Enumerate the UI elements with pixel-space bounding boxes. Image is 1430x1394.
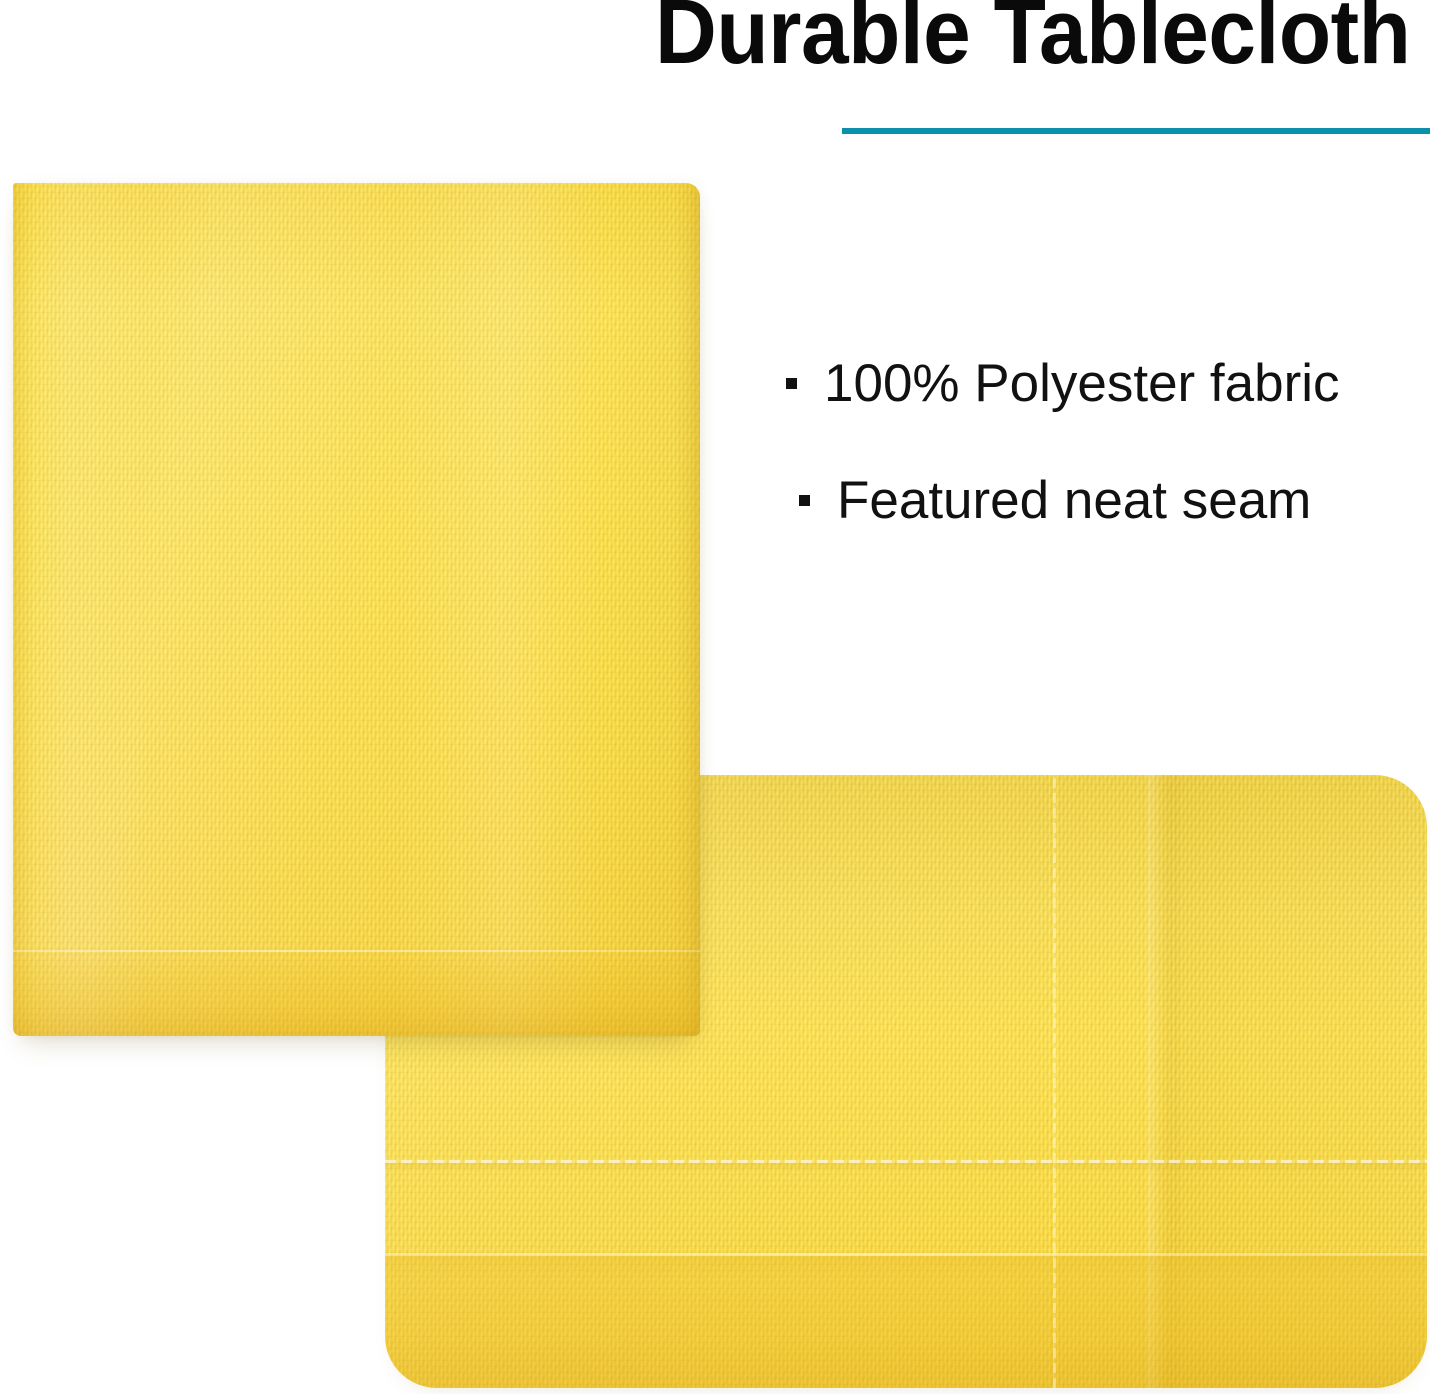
list-item: 100% Polyester fabric <box>786 352 1426 414</box>
title-underline-rule <box>842 128 1430 134</box>
horizontal-stitch-seam <box>385 1160 1427 1163</box>
square-bullet-icon <box>799 495 810 506</box>
cloth-left-edge-shading <box>13 183 35 1036</box>
folded-tablecloth-photo <box>13 183 700 1036</box>
cloth-bottom-fold-edge <box>13 950 700 952</box>
page-title: Durable Tablecloth <box>655 0 1390 78</box>
feature-label: Featured neat seam <box>837 474 1311 527</box>
cloth-roll-highlight <box>13 183 700 1036</box>
cloth-right-edge-shading <box>674 183 700 1036</box>
feature-list: 100% Polyester fabric Featured neat seam <box>786 352 1426 586</box>
cloth-bottom-hem-edge <box>385 1253 1427 1256</box>
feature-label: 100% Polyester fabric <box>824 357 1340 410</box>
horizontal-seam-shadow <box>385 1163 1427 1172</box>
vertical-stitch-seam <box>1053 775 1056 1388</box>
product-feature-image: Durable Tablecloth 100% Polyester fabric… <box>0 0 1430 1394</box>
cloth-bottom-hem <box>385 1255 1427 1388</box>
cloth-bottom-fold-band <box>13 950 700 1036</box>
square-bullet-icon <box>786 378 797 389</box>
list-item: Featured neat seam <box>786 469 1426 531</box>
